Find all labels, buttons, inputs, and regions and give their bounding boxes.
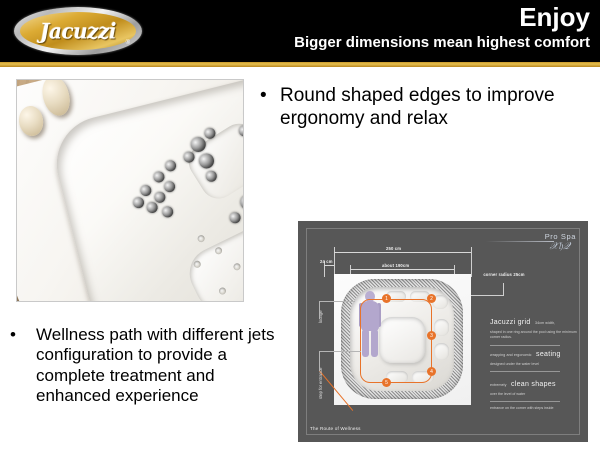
- dim-line-190: [350, 269, 454, 270]
- pro-spa-wordmark: Pro Spa: [545, 232, 576, 241]
- logo-wordmark: Jacuzzi: [40, 18, 116, 44]
- pro-spa-logo: Pro Spa 𝒳𝔥𝒬: [486, 230, 578, 266]
- bullet-text-round-edges: Round shaped edges to improve ergonomy a…: [280, 84, 596, 130]
- note-clean-shapes: extremely clean shapes over the level of…: [490, 373, 580, 402]
- designer-signature-icon: 𝒳𝔥𝒬: [550, 241, 570, 252]
- photo-jet: [146, 201, 159, 214]
- route-node-4: 4: [427, 367, 436, 376]
- bullet-list-right: • Round shaped edges to improve ergonomy…: [258, 84, 596, 130]
- list-item: • Round shaped edges to improve ergonomy…: [258, 84, 596, 130]
- spa-technical-diagram: Pro Spa 𝒳𝔥𝒬 250 cm 24 cm about 190cm cor…: [298, 221, 588, 442]
- note-body: shaped in one ring around the pool using…: [490, 330, 580, 341]
- dim-extension-line: [471, 247, 472, 277]
- photo-jet: [139, 184, 152, 197]
- photo-jet: [228, 211, 241, 224]
- note-small: wrapping and ergonomic: [490, 353, 532, 357]
- jacuzzi-logo: Jacuzzi ®: [14, 7, 142, 55]
- label-leader: [319, 301, 320, 319]
- note-seating: wrapping and ergonomic seating designed …: [490, 343, 580, 372]
- logo-trademark-icon: ®: [126, 40, 130, 46]
- dim-label-24: 24 cm: [320, 259, 333, 264]
- spa-photo: [16, 79, 244, 302]
- diagram-seat: [434, 319, 449, 336]
- photo-jet: [163, 180, 176, 193]
- photo-seat: [181, 219, 244, 302]
- note-body: over the level of water: [490, 392, 580, 397]
- dim-label-190: about 190cm: [382, 263, 409, 268]
- logo-oval-inner: Jacuzzi: [20, 12, 136, 50]
- note-small: extremely: [490, 383, 506, 387]
- note-title: seating: [536, 351, 561, 358]
- note-body: entrance on the corner with steps inside: [490, 406, 580, 411]
- note-divider: [490, 401, 560, 402]
- header-white-rule: [0, 67, 600, 69]
- bullet-text-wellness-path: Wellness path with different jets config…: [36, 325, 293, 407]
- label-leader: [319, 351, 361, 352]
- bullet-marker-icon: •: [258, 84, 280, 107]
- photo-jet: [161, 205, 174, 218]
- route-caption: The Route of Wellness: [310, 426, 361, 431]
- dim-label-250: 250 cm: [386, 246, 401, 251]
- route-node-2: 2: [427, 294, 436, 303]
- bullet-marker-icon: •: [8, 325, 36, 345]
- dim-line-250: [334, 252, 471, 253]
- route-node-3: 3: [427, 331, 436, 340]
- page-title: Enjoy: [519, 4, 590, 31]
- label-leader: [319, 351, 320, 371]
- photo-jet: [239, 193, 244, 211]
- diagram-seat: [434, 343, 449, 360]
- page-subtitle: Bigger dimensions mean highest comfort: [294, 35, 590, 51]
- note-body: designed under the water level: [490, 362, 580, 367]
- route-node-1: 1: [382, 294, 391, 303]
- photo-jet: [164, 159, 177, 172]
- label-step-for-entrance: step for entrance: [318, 368, 323, 399]
- photo-jet: [132, 196, 145, 209]
- photo-jet: [152, 170, 165, 183]
- bullet-list-left: • Wellness path with different jets conf…: [8, 325, 293, 407]
- list-item: • Wellness path with different jets conf…: [8, 325, 293, 407]
- pro-spa-swoosh-icon: [486, 241, 554, 242]
- dim-line-24: [324, 265, 334, 266]
- dim-label-corner-radius: corner radius 25cm: [481, 272, 527, 278]
- note-title: Jacuzzi grid: [490, 319, 531, 326]
- photo-hole: [197, 234, 205, 242]
- callout-leader: [503, 283, 504, 295]
- note-small: 34cm width,: [535, 321, 555, 325]
- note-title: clean shapes: [511, 381, 556, 388]
- label-leader: [319, 301, 355, 302]
- note-entrance: entrance on the corner with steps inside: [490, 405, 580, 411]
- slide-header: Jacuzzi ® Enjoy Bigger dimensions mean h…: [0, 0, 600, 62]
- note-jacuzzi-grid: Jacuzzi grid 34cm width, shaped in one r…: [490, 311, 580, 346]
- photo-jet: [243, 103, 244, 121]
